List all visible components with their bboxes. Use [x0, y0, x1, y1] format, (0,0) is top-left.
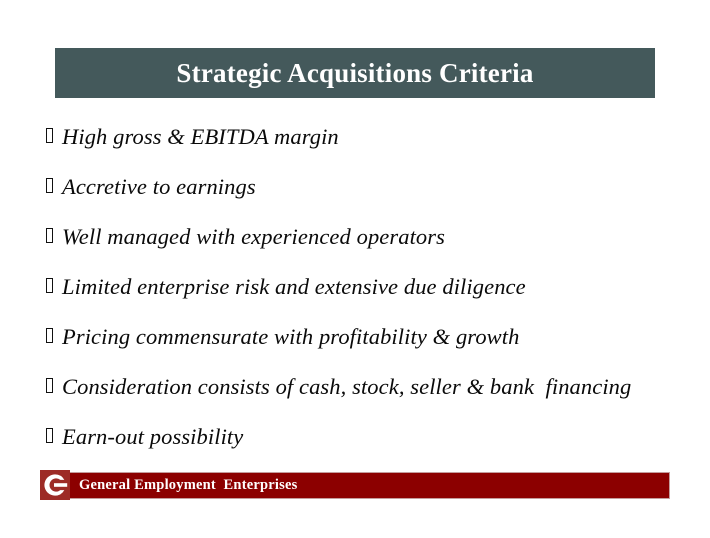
list-item: High gross & EBITDA margin — [46, 112, 686, 162]
bullet-box-icon — [46, 228, 62, 245]
bullet-list: High gross & EBITDA margin Accretive to … — [46, 112, 686, 462]
list-item: Consideration consists of cash, stock, s… — [46, 362, 686, 412]
list-item-label: Pricing commensurate with profitability … — [62, 324, 520, 350]
bullet-box-icon — [46, 178, 62, 195]
bullet-box-icon — [46, 128, 62, 145]
list-item: Earn-out possibility — [46, 412, 686, 462]
list-item-label: Well managed with experienced operators — [62, 224, 445, 250]
list-item-label: Limited enterprise risk and extensive du… — [62, 274, 526, 300]
page-title: Strategic Acquisitions Criteria — [55, 48, 655, 98]
list-item-label: Earn-out possibility — [62, 424, 243, 450]
list-item: Limited enterprise risk and extensive du… — [46, 262, 686, 312]
slide-canvas: Strategic Acquisitions Criteria High gro… — [0, 0, 710, 538]
bullet-box-icon — [46, 378, 62, 395]
list-item: Accretive to earnings — [46, 162, 686, 212]
list-item: Pricing commensurate with profitability … — [46, 312, 686, 362]
bullet-box-icon — [46, 428, 62, 445]
list-item-label: High gross & EBITDA margin — [62, 124, 339, 150]
list-item-label: Consideration consists of cash, stock, s… — [62, 374, 631, 400]
company-logo — [40, 470, 70, 500]
logo-g-icon — [40, 470, 70, 500]
bullet-box-icon — [46, 328, 62, 345]
company-name-label: General Employment Enterprises — [79, 473, 297, 498]
footer-bar: General Employment Enterprises — [68, 472, 670, 499]
list-item: Well managed with experienced operators — [46, 212, 686, 262]
list-item-label: Accretive to earnings — [62, 174, 256, 200]
title-band: Strategic Acquisitions Criteria — [55, 48, 655, 98]
bullet-box-icon — [46, 278, 62, 295]
